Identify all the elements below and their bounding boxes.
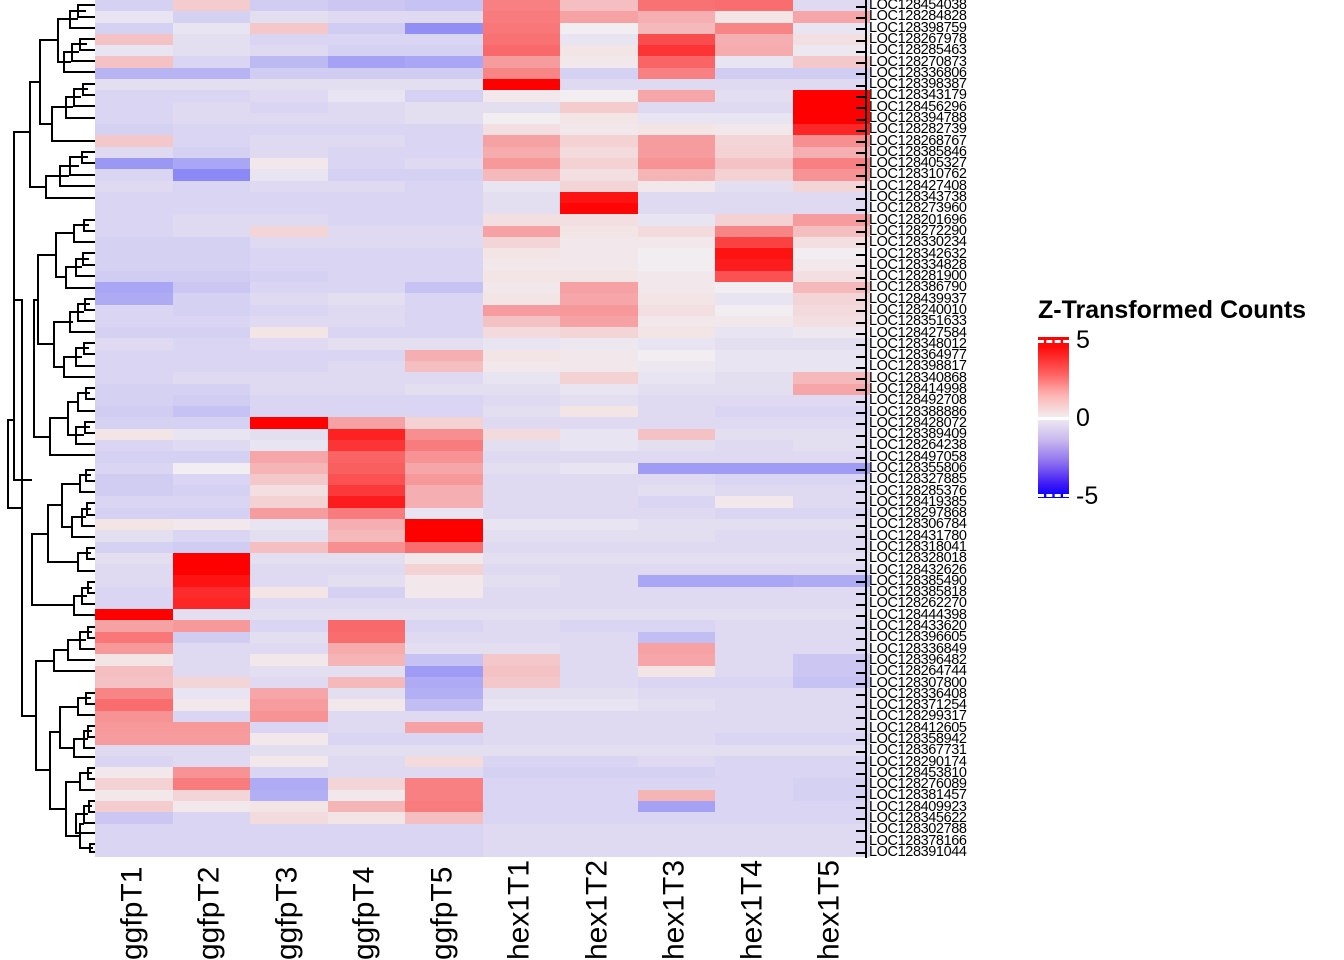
heatmap-cell [250,338,328,349]
heatmap-cell [328,361,406,372]
heatmap-cell [173,654,251,665]
heatmap-cell [405,542,483,553]
heatmap-row [95,372,870,383]
row-tick [856,469,865,471]
heatmap-cell [328,835,406,846]
heatmap-cell [560,440,638,451]
heatmap-cell [483,113,561,124]
heatmap-cell [95,542,173,553]
heatmap-cell [560,508,638,519]
heatmap-cell [250,440,328,451]
heatmap-cell [328,169,406,180]
heatmap-cell [95,23,173,34]
row-axis [856,0,870,858]
heatmap-cell [560,68,638,79]
heatmap-cell [715,496,793,507]
heatmap-cell [173,237,251,248]
heatmap-cell [483,316,561,327]
heatmap-cell [173,338,251,349]
heatmap-cell [405,169,483,180]
heatmap-cell [250,282,328,293]
heatmap-cell [250,237,328,248]
heatmap-cell [405,79,483,90]
heatmap-cell [405,790,483,801]
heatmap-cell [173,169,251,180]
heatmap-cell [250,553,328,564]
heatmap-cell [328,406,406,417]
heatmap-cell [405,508,483,519]
heatmap-cell [328,632,406,643]
heatmap-cell [405,575,483,586]
heatmap-cell [560,406,638,417]
heatmap-cell [638,135,716,146]
row-tick [856,423,865,425]
heatmap-cell [250,226,328,237]
heatmap-cell [405,485,483,496]
row-tick [856,186,865,188]
heatmap-cell [560,835,638,846]
heatmap-row [95,496,870,507]
row-tick [856,491,865,493]
heatmap-cell [560,824,638,835]
heatmap-cell [560,11,638,22]
heatmap-cell [173,474,251,485]
heatmap-cell [405,45,483,56]
heatmap-cell [638,192,716,203]
heatmap-cell [328,564,406,575]
heatmap-cell [250,711,328,722]
heatmap-row [95,147,870,158]
heatmap-cell [173,801,251,812]
heatmap-cell [328,271,406,282]
heatmap-cell [95,677,173,688]
heatmap-cell [173,113,251,124]
heatmap-cell [328,609,406,620]
row-tick [856,265,865,267]
heatmap-cell [328,778,406,789]
heatmap-cell [715,733,793,744]
heatmap-row [95,767,870,778]
heatmap-cell [95,778,173,789]
heatmap-cell [250,496,328,507]
heatmap-cell [560,237,638,248]
heatmap-cell [328,11,406,22]
heatmap-cell [95,632,173,643]
heatmap-cell [638,666,716,677]
heatmap-cell [638,169,716,180]
heatmap-cell [328,485,406,496]
heatmap-cell [715,485,793,496]
heatmap-cell [250,790,328,801]
heatmap-cell [483,575,561,586]
heatmap-cell [483,824,561,835]
heatmap-cell [95,440,173,451]
heatmap-cell [328,203,406,214]
heatmap-cell [483,158,561,169]
column-label-slot: ggfpT4 [328,858,406,960]
row-tick [856,322,865,324]
heatmap-cell [638,677,716,688]
heatmap-cell [715,23,793,34]
heatmap-cell [560,778,638,789]
legend: Z-Transformed Counts 5 0 -5 [1036,296,1336,511]
heatmap-cell [250,564,328,575]
heatmap-row [95,293,870,304]
heatmap-cell [715,417,793,428]
heatmap-cell [405,181,483,192]
heatmap-row [95,575,870,586]
heatmap-cell [250,406,328,417]
heatmap-cell [715,440,793,451]
heatmap-cell [638,293,716,304]
heatmap-cell [250,147,328,158]
column-label: hex1T5 [813,860,847,960]
heatmap-cell [715,203,793,214]
heatmap-cell [715,11,793,22]
row-tick [856,514,865,516]
heatmap-row [95,474,870,485]
heatmap-cell [95,451,173,462]
heatmap-cell [328,451,406,462]
heatmap-cell [560,474,638,485]
heatmap-cell [95,248,173,259]
heatmap-cell [250,90,328,101]
heatmap-cell [250,0,328,11]
heatmap-cell [95,361,173,372]
column-label: ggfpT5 [425,867,459,960]
heatmap-row [95,169,870,180]
heatmap-cell [560,666,638,677]
heatmap-cell [715,338,793,349]
heatmap-cell [560,169,638,180]
heatmap-cell [483,632,561,643]
heatmap-cell [715,643,793,654]
heatmap-cell [173,451,251,462]
heatmap-row [95,384,870,395]
row-tick [856,277,865,279]
heatmap-cell [715,542,793,553]
heatmap-cell [405,598,483,609]
heatmap-cell [405,316,483,327]
heatmap-cell [405,259,483,270]
heatmap-cell [638,688,716,699]
heatmap-cell [483,474,561,485]
row-dendrogram [0,0,95,858]
heatmap-cell [250,824,328,835]
heatmap-cell [715,564,793,575]
heatmap-row [95,598,870,609]
heatmap-cell [638,68,716,79]
heatmap-cell [173,508,251,519]
row-tick [856,570,865,572]
legend-title: Z-Transformed Counts [1038,296,1306,325]
heatmap-cell [95,68,173,79]
heatmap-cell [173,778,251,789]
heatmap-cell [560,282,638,293]
heatmap-cell [638,361,716,372]
heatmap-cell [95,790,173,801]
heatmap-cell [173,203,251,214]
heatmap-cell [638,147,716,158]
row-tick [856,209,865,211]
heatmap-cell [250,835,328,846]
heatmap-cell [483,666,561,677]
heatmap-cell [405,496,483,507]
heatmap-cell [173,384,251,395]
heatmap-cell [483,350,561,361]
heatmap-cell [328,666,406,677]
column-label-slot: hex1T2 [560,858,638,960]
heatmap-cell [173,259,251,270]
heatmap-row [95,824,870,835]
column-label: hex1T1 [503,860,537,960]
heatmap-row [95,463,870,474]
row-tick [856,525,865,527]
heatmap-cell [715,722,793,733]
heatmap-cell [638,259,716,270]
heatmap-cell [715,102,793,113]
heatmap-cell [328,0,406,11]
row-tick [856,762,865,764]
heatmap-cell [638,124,716,135]
heatmap-cell [250,609,328,620]
heatmap-cell [560,756,638,767]
heatmap-cell [638,23,716,34]
heatmap-cell [638,56,716,67]
heatmap-cell [173,620,251,631]
heatmap-cell [405,722,483,733]
heatmap-cell [560,722,638,733]
heatmap-cell [638,226,716,237]
heatmap-cell [95,11,173,22]
heatmap-cell [95,745,173,756]
heatmap-cell [483,406,561,417]
heatmap-cell [483,56,561,67]
heatmap-cell [405,745,483,756]
heatmap-row [95,609,870,620]
heatmap-cell [638,530,716,541]
heatmap-cell [328,350,406,361]
heatmap-cell [250,530,328,541]
heatmap-cell [95,474,173,485]
heatmap-cell [715,56,793,67]
heatmap-cell [250,767,328,778]
heatmap-cell [483,11,561,22]
heatmap-row [95,846,870,857]
heatmap-cell [483,519,561,530]
column-label-slot: hex1T5 [793,858,871,960]
heatmap-cell [405,666,483,677]
heatmap-cell [328,102,406,113]
heatmap-cell [715,429,793,440]
heatmap-cell [638,812,716,823]
heatmap-cell [173,767,251,778]
heatmap-cell [405,835,483,846]
colorbar-tick-low [1038,494,1069,497]
heatmap-cell [250,508,328,519]
row-tick [856,627,865,629]
heatmap-cell [95,733,173,744]
heatmap-cell [173,598,251,609]
heatmap-cell [250,395,328,406]
heatmap-cell [173,395,251,406]
heatmap-cell [638,474,716,485]
row-tick [856,548,865,550]
heatmap-row [95,654,870,665]
heatmap-cell [250,34,328,45]
heatmap-cell [405,530,483,541]
heatmap-cell [638,158,716,169]
heatmap-cell [328,56,406,67]
heatmap-cell [715,778,793,789]
heatmap-cell [405,395,483,406]
heatmap-cell [560,553,638,564]
heatmap-cell [560,587,638,598]
row-tick [856,96,865,98]
heatmap-cell [95,45,173,56]
row-tick [856,299,865,301]
heatmap-cell [405,756,483,767]
heatmap-cell [250,722,328,733]
heatmap-cell [405,417,483,428]
heatmap-cell [638,745,716,756]
heatmap-cell [173,34,251,45]
heatmap-cell [95,688,173,699]
heatmap-cell [250,812,328,823]
heatmap-cell [95,350,173,361]
heatmap-cell [95,609,173,620]
heatmap-cell [638,395,716,406]
heatmap-cell [95,56,173,67]
heatmap-cell [173,248,251,259]
heatmap-cell [483,259,561,270]
heatmap-cell [715,609,793,620]
heatmap-cell [483,756,561,767]
heatmap-cell [483,237,561,248]
heatmap-cell [173,158,251,169]
heatmap-row [95,485,870,496]
row-label: LOC128391044 [869,845,967,858]
heatmap-cell [560,113,638,124]
heatmap-cell [638,519,716,530]
heatmap-cell [328,226,406,237]
heatmap-cell [715,677,793,688]
heatmap-row [95,711,870,722]
heatmap-cell [405,384,483,395]
heatmap-cell [328,824,406,835]
row-tick [856,841,865,843]
heatmap-cell [328,45,406,56]
heatmap-cell [483,203,561,214]
heatmap-cell [715,790,793,801]
heatmap-cell [405,406,483,417]
heatmap-cell [250,677,328,688]
heatmap-cell [715,192,793,203]
heatmap-cell [483,45,561,56]
heatmap-cell [95,395,173,406]
heatmap-cell [95,0,173,11]
heatmap-cell [483,496,561,507]
heatmap-cell [173,824,251,835]
heatmap-cell [328,68,406,79]
heatmap-cell [173,790,251,801]
heatmap-cell [483,587,561,598]
heatmap-cell [560,271,638,282]
heatmap-row [95,451,870,462]
heatmap-cell [638,34,716,45]
heatmap-cell [715,226,793,237]
column-label-slot: ggfpT5 [405,858,483,960]
heatmap-cell [638,429,716,440]
heatmap-cell [173,835,251,846]
heatmap-row [95,282,870,293]
heatmap-cell [715,124,793,135]
heatmap-cell [405,68,483,79]
heatmap-row [95,519,870,530]
heatmap-cell [95,530,173,541]
heatmap-cell [95,417,173,428]
heatmap-cell [173,327,251,338]
heatmap-cell [328,417,406,428]
heatmap-row [95,745,870,756]
heatmap-row [95,722,870,733]
row-tick [856,73,865,75]
heatmap-cell [405,846,483,857]
heatmap-row [95,733,870,744]
heatmap-cell [95,575,173,586]
heatmap-cell [638,327,716,338]
heatmap-cell [715,259,793,270]
heatmap-cell [250,23,328,34]
heatmap-cell [95,666,173,677]
heatmap-cell [483,801,561,812]
heatmap-row [95,181,870,192]
heatmap-cell [95,835,173,846]
row-tick [856,62,865,64]
heatmap-row [95,778,870,789]
heatmap-cell [173,429,251,440]
row-tick [856,773,865,775]
heatmap-cell [95,169,173,180]
heatmap-cell [250,372,328,383]
heatmap-cell [483,699,561,710]
heatmap-cell [638,767,716,778]
heatmap-cell [483,835,561,846]
heatmap-cell [250,778,328,789]
heatmap-cell [560,677,638,688]
heatmap-cell [638,11,716,22]
heatmap-cell [328,23,406,34]
column-label: ggfpT4 [348,867,382,960]
heatmap-cell [560,496,638,507]
heatmap-cell [95,226,173,237]
heatmap-row [95,56,870,67]
heatmap-cell [483,542,561,553]
heatmap-cell [173,485,251,496]
heatmap-cell [715,327,793,338]
row-tick [856,638,865,640]
heatmap-cell [638,778,716,789]
heatmap-cell [173,79,251,90]
heatmap-cell [250,293,328,304]
heatmap-cell [483,429,561,440]
heatmap-cell [483,745,561,756]
heatmap-cell [560,214,638,225]
heatmap-row [95,90,870,101]
heatmap-cell [95,620,173,631]
heatmap-cell [328,508,406,519]
heatmap-cell [95,485,173,496]
